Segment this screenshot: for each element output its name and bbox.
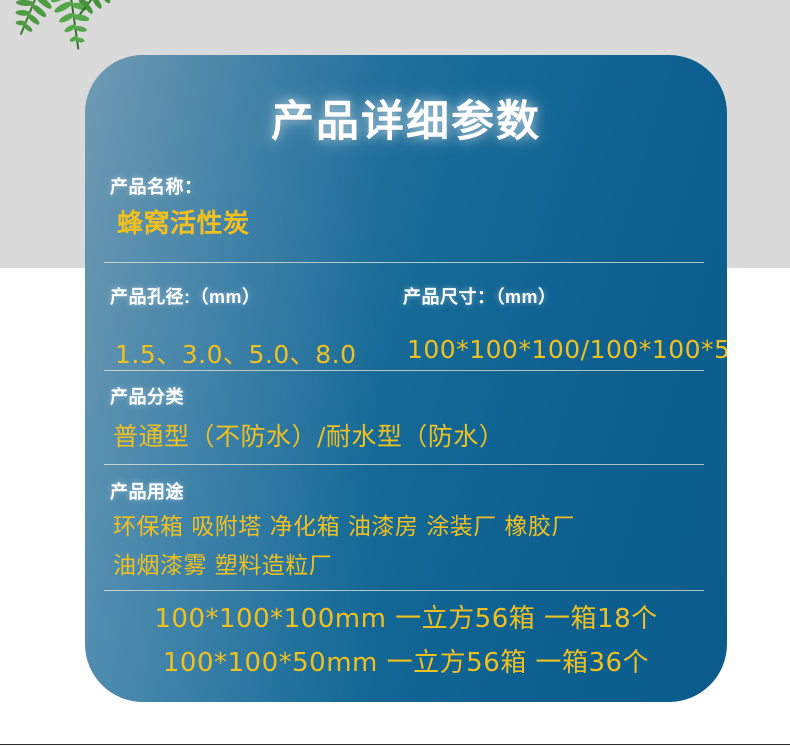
packing-info-line-1-text: 100*100*100mm 一立方56箱 一箱18个 [154, 604, 657, 634]
product-size-value: 100*100*100/100*100*50 [407, 335, 727, 364]
pore-size-value: 1.5、3.0、5.0、8.0 [115, 335, 357, 371]
product-name-label: 产品名称： [110, 173, 203, 199]
divider-4 [104, 590, 704, 591]
divider-1 [104, 262, 704, 263]
card-content: 产品详细参数 产品名称： 蜂窝活性炭 产品孔径:（mm） 产品尺寸：（mm） 1… [85, 55, 727, 702]
page-background: 产品详细参数 产品名称： 蜂窝活性炭 产品孔径:（mm） 产品尺寸：（mm） 1… [0, 0, 790, 747]
usage-line-2: 油烟漆雾 塑料造粒厂 [113, 546, 332, 580]
pore-size-label: 产品孔径:（mm） [110, 283, 261, 309]
packing-info-line-1: 100*100*100mm 一立方56箱 一箱18个 [85, 598, 727, 635]
product-size-label: 产品尺寸：（mm） [403, 283, 557, 309]
product-name-value: 蜂窝活性炭 [117, 203, 250, 240]
usage-label: 产品用途 [110, 478, 184, 504]
packing-info-line-2: 100*100*50mm 一立方56箱 一箱36个 [85, 642, 727, 679]
usage-line-1: 环保箱 吸附塔 净化箱 油漆房 涂装厂 橡胶厂 [113, 507, 575, 541]
page-title: 产品详细参数 [85, 87, 727, 149]
divider-3 [104, 464, 704, 465]
divider-2 [104, 370, 704, 371]
classification-label: 产品分类 [110, 383, 184, 409]
bottom-separator-rule [0, 744, 790, 745]
product-spec-card: 产品详细参数 产品名称： 蜂窝活性炭 产品孔径:（mm） 产品尺寸：（mm） 1… [85, 55, 727, 702]
packing-info-line-2-text: 100*100*50mm 一立方56箱 一箱36个 [163, 648, 649, 678]
classification-value: 普通型（不防水）/耐水型（防水） [113, 417, 504, 453]
